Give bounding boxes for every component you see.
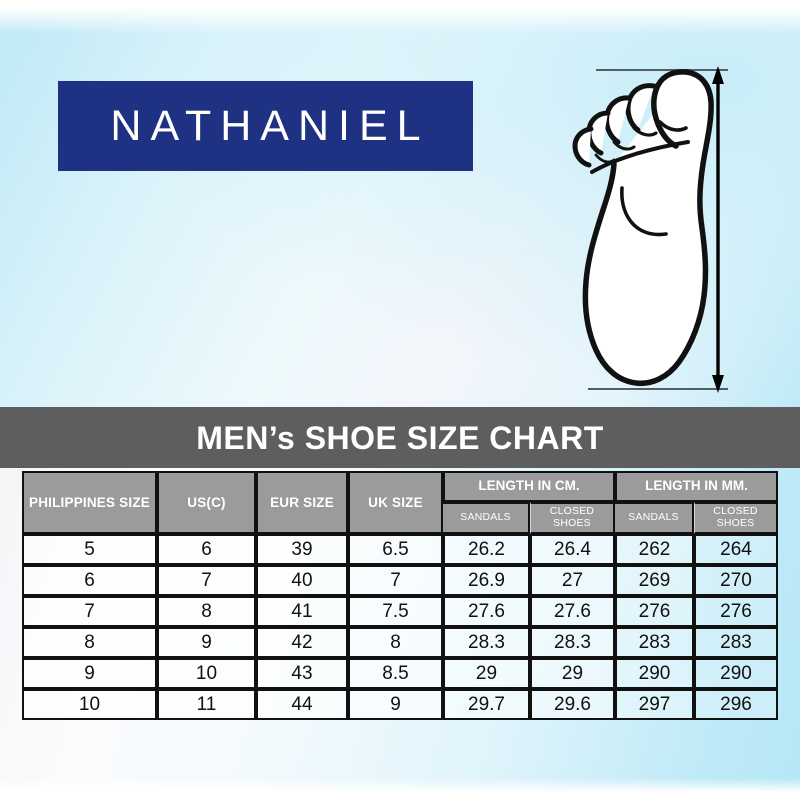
size-chart-table: PHILIPPINES SIZE US(C) EUR SIZE UK SIZE … (22, 471, 778, 720)
cell-cm-closed: 28.3 (530, 627, 615, 658)
cell-uk: 8 (348, 627, 443, 658)
foot-sole-shape (575, 72, 711, 383)
column-header-eur: EUR SIZE (256, 471, 348, 534)
column-header-uk: UK SIZE (348, 471, 443, 534)
cell-mm-sandals: 297 (615, 689, 694, 720)
bottom-fade (0, 778, 800, 792)
cell-mm-closed: 276 (694, 596, 778, 627)
cell-cm-closed: 27 (530, 565, 615, 596)
cell-us: 7 (157, 565, 256, 596)
cell-mm-closed: 283 (694, 627, 778, 658)
column-header-us: US(C) (157, 471, 256, 534)
table-row: 8942828.328.3283283 (22, 627, 778, 658)
cell-cm-sandals: 29.7 (443, 689, 530, 720)
group-header-length-cm: LENGTH IN CM. (443, 471, 615, 502)
cell-us: 9 (157, 627, 256, 658)
column-header-philippines: PHILIPPINES SIZE (22, 471, 157, 534)
hero-section: NATHANIEL (0, 8, 800, 407)
cell-philippines: 9 (22, 658, 157, 689)
cell-cm-sandals: 29 (443, 658, 530, 689)
cell-eur: 41 (256, 596, 348, 627)
cell-eur: 39 (256, 534, 348, 565)
table-row: 101144929.729.6297296 (22, 689, 778, 720)
table-row: 78417.527.627.6276276 (22, 596, 778, 627)
cell-mm-sandals: 262 (615, 534, 694, 565)
foot-illustration (556, 52, 786, 404)
cell-mm-closed: 290 (694, 658, 778, 689)
length-measure-arrow (712, 66, 724, 393)
brand-logo: NATHANIEL (58, 81, 473, 171)
cell-mm-closed: 296 (694, 689, 778, 720)
cell-eur: 40 (256, 565, 348, 596)
cell-cm-sandals: 28.3 (443, 627, 530, 658)
cell-philippines: 7 (22, 596, 157, 627)
table-header: PHILIPPINES SIZE US(C) EUR SIZE UK SIZE … (22, 471, 778, 534)
cell-cm-closed: 26.4 (530, 534, 615, 565)
table-row: 910438.52929290290 (22, 658, 778, 689)
cell-cm-sandals: 27.6 (443, 596, 530, 627)
cell-philippines: 6 (22, 565, 157, 596)
subcolumn-header-mm-sandals: SANDALS (615, 502, 694, 534)
cell-us: 6 (157, 534, 256, 565)
cell-philippines: 8 (22, 627, 157, 658)
cell-uk: 6.5 (348, 534, 443, 565)
cell-uk: 7.5 (348, 596, 443, 627)
cell-cm-sandals: 26.9 (443, 565, 530, 596)
cell-mm-sandals: 276 (615, 596, 694, 627)
cell-uk: 7 (348, 565, 443, 596)
cell-uk: 8.5 (348, 658, 443, 689)
cell-us: 8 (157, 596, 256, 627)
cell-eur: 43 (256, 658, 348, 689)
cell-philippines: 5 (22, 534, 157, 565)
table-row: 56396.526.226.4262264 (22, 534, 778, 565)
cell-us: 11 (157, 689, 256, 720)
table-body: 56396.526.226.42622646740726.92726927078… (22, 534, 778, 720)
brand-logo-text: NATHANIEL (101, 105, 429, 148)
cell-mm-sandals: 290 (615, 658, 694, 689)
table-row: 6740726.927269270 (22, 565, 778, 596)
table-header-row-top: PHILIPPINES SIZE US(C) EUR SIZE UK SIZE … (22, 471, 778, 502)
cell-eur: 44 (256, 689, 348, 720)
chart-title-band: MEN’s SHOE SIZE CHART (0, 407, 800, 468)
page-title: MEN’s SHOE SIZE CHART (196, 422, 604, 454)
subcolumn-header-mm-closed-shoes: CLOSED SHOES (694, 502, 778, 534)
cell-mm-closed: 270 (694, 565, 778, 596)
cell-cm-closed: 29 (530, 658, 615, 689)
cell-cm-sandals: 26.2 (443, 534, 530, 565)
cell-philippines: 10 (22, 689, 157, 720)
cell-mm-closed: 264 (694, 534, 778, 565)
cell-mm-sandals: 269 (615, 565, 694, 596)
hero-top-fade (0, 8, 800, 34)
cell-cm-closed: 29.6 (530, 689, 615, 720)
cell-cm-closed: 27.6 (530, 596, 615, 627)
subcolumn-header-cm-closed-shoes: CLOSED SHOES (530, 502, 615, 534)
group-header-length-mm: LENGTH IN MM. (615, 471, 778, 502)
subcolumn-header-cm-sandals: SANDALS (443, 502, 530, 534)
size-chart-page: NATHANIEL (0, 0, 800, 800)
cell-eur: 42 (256, 627, 348, 658)
cell-us: 10 (157, 658, 256, 689)
size-chart-table-wrapper: PHILIPPINES SIZE US(C) EUR SIZE UK SIZE … (22, 471, 778, 720)
cell-uk: 9 (348, 689, 443, 720)
cell-mm-sandals: 283 (615, 627, 694, 658)
